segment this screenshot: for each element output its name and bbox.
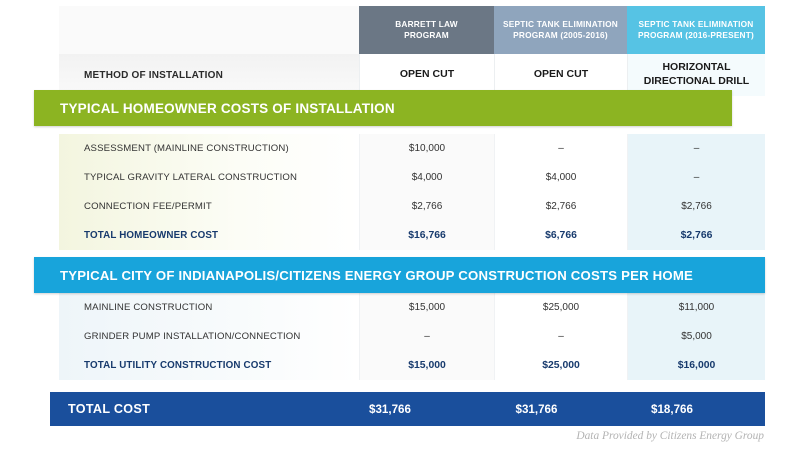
method-text-line-1: HORIZONTAL: [662, 61, 730, 73]
total-cost-septic-2005-2016: $31,766: [470, 403, 603, 416]
row-value-septic-2016-present: $5,000: [627, 322, 765, 351]
table-row: TYPICAL GRAVITY LATERAL CONSTRUCTION $4,…: [59, 163, 765, 192]
row-value-septic-2016-present: $16,000: [627, 351, 765, 380]
row-value-septic-2005-2016: $25,000: [494, 351, 627, 380]
section-heading-utility-costs: TYPICAL CITY OF INDIANAPOLIS/CITIZENS EN…: [34, 257, 765, 293]
method-text: OPEN CUT: [534, 68, 588, 82]
row-label: TYPICAL GRAVITY LATERAL CONSTRUCTION: [59, 163, 359, 192]
row-value-septic-2005-2016: –: [494, 134, 627, 163]
row-value-septic-2005-2016: $2,766: [494, 192, 627, 221]
method-text: OPEN CUT: [400, 68, 454, 82]
row-label: MAINLINE CONSTRUCTION: [59, 293, 359, 322]
header-line-1: SEPTIC TANK ELIMINATION: [639, 19, 754, 29]
row-value-septic-2016-present: $2,766: [627, 221, 765, 250]
table-row: CONNECTION FEE/PERMIT $2,766 $2,766 $2,7…: [59, 192, 765, 221]
row-value-septic-2016-present: $11,000: [627, 293, 765, 322]
row-value-barrett-law: $10,000: [359, 134, 494, 163]
column-header-barrett-law: BARRETT LAW PROGRAM: [359, 6, 494, 54]
column-header-septic-2005-2016: SEPTIC TANK ELIMINATION PROGRAM (2005-20…: [494, 6, 627, 54]
row-label: TOTAL HOMEOWNER COST: [59, 221, 359, 250]
cost-table: BARRETT LAW PROGRAM SEPTIC TANK ELIMINAT…: [59, 6, 765, 380]
row-value-septic-2016-present: –: [627, 163, 765, 192]
row-label: TOTAL UTILITY CONSTRUCTION COST: [59, 351, 359, 380]
row-label: GRINDER PUMP INSTALLATION/CONNECTION: [59, 322, 359, 351]
row-value-barrett-law: $2,766: [359, 192, 494, 221]
data-source-credit: Data Provided by Citizens Energy Group: [576, 430, 764, 442]
row-value-septic-2016-present: $2,766: [627, 192, 765, 221]
header-line-1: BARRETT LAW: [395, 19, 458, 29]
section-utility-costs: MAINLINE CONSTRUCTION $15,000 $25,000 $1…: [59, 293, 765, 380]
total-cost-septic-2016-present: $18,766: [603, 403, 741, 416]
section-homeowner-costs: ASSESSMENT (MAINLINE CONSTRUCTION) $10,0…: [59, 134, 765, 250]
table-row: MAINLINE CONSTRUCTION $15,000 $25,000 $1…: [59, 293, 765, 322]
header-line-1: SEPTIC TANK ELIMINATION: [503, 19, 618, 29]
row-value-barrett-law: $15,000: [359, 293, 494, 322]
row-label: ASSESSMENT (MAINLINE CONSTRUCTION): [59, 134, 359, 163]
row-value-barrett-law: $15,000: [359, 351, 494, 380]
row-value-barrett-law: $4,000: [359, 163, 494, 192]
row-value-septic-2005-2016: $4,000: [494, 163, 627, 192]
column-header-septic-2016-present: SEPTIC TANK ELIMINATION PROGRAM (2016-PR…: [627, 6, 765, 54]
table-row-total-homeowner: TOTAL HOMEOWNER COST $16,766 $6,766 $2,7…: [59, 221, 765, 250]
table-header-row: BARRETT LAW PROGRAM SEPTIC TANK ELIMINAT…: [59, 6, 765, 54]
method-text-line-2: DIRECTIONAL DRILL: [644, 75, 749, 87]
table-row-total-utility: TOTAL UTILITY CONSTRUCTION COST $15,000 …: [59, 351, 765, 380]
row-value-barrett-law: $16,766: [359, 221, 494, 250]
row-value-septic-2005-2016: –: [494, 322, 627, 351]
total-cost-label: TOTAL COST: [50, 402, 310, 416]
table-row: ASSESSMENT (MAINLINE CONSTRUCTION) $10,0…: [59, 134, 765, 163]
infographic-table: HISTORIC PROGRAM COSTS BARRETT LAW PROGR…: [0, 0, 800, 450]
row-value-septic-2005-2016: $6,766: [494, 221, 627, 250]
header-line-2: PROGRAM (2005-2016): [513, 30, 608, 40]
header-spacer: [59, 6, 359, 54]
table-row: GRINDER PUMP INSTALLATION/CONNECTION – –…: [59, 322, 765, 351]
total-cost-row: TOTAL COST $31,766 $31,766 $18,766: [50, 392, 765, 426]
section-heading-homeowner-costs: TYPICAL HOMEOWNER COSTS OF INSTALLATION: [34, 90, 732, 126]
row-value-septic-2016-present: –: [627, 134, 765, 163]
total-cost-barrett-law: $31,766: [310, 403, 470, 416]
header-line-2: PROGRAM (2016-PRESENT): [638, 30, 754, 40]
row-label: CONNECTION FEE/PERMIT: [59, 192, 359, 221]
header-line-2: PROGRAM: [404, 30, 449, 40]
row-value-septic-2005-2016: $25,000: [494, 293, 627, 322]
row-value-barrett-law: –: [359, 322, 494, 351]
